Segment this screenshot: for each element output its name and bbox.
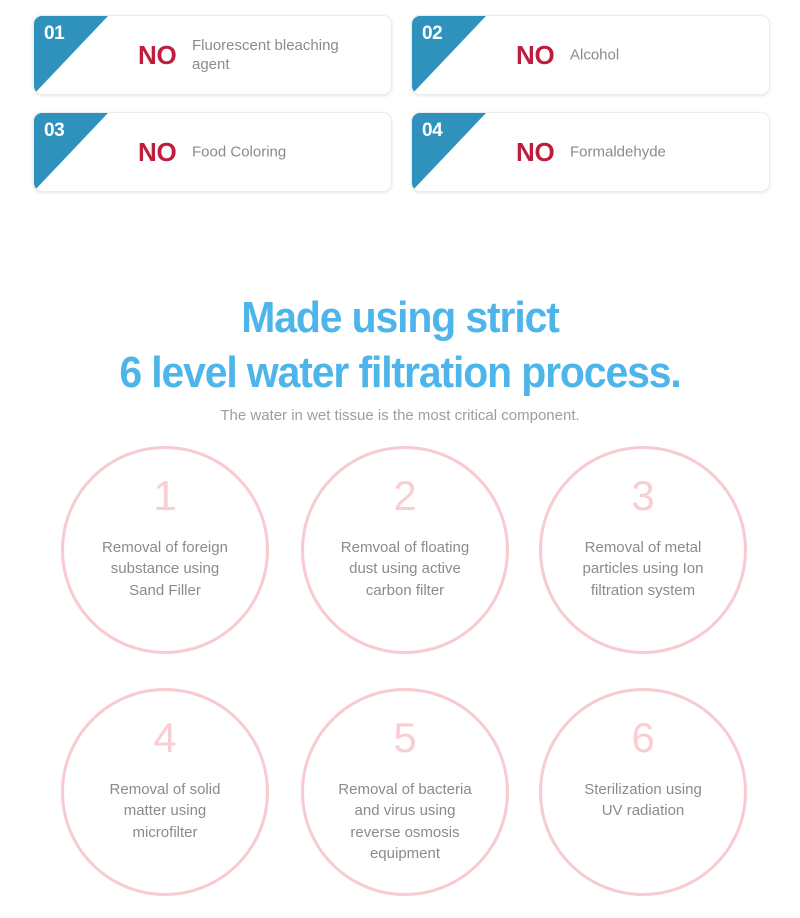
headline-line-1: Made using strict [28, 291, 772, 346]
no-card-04: 04 NO Formaldehyde [411, 112, 770, 192]
card-ingredient-text: Formaldehyde [570, 142, 757, 161]
card-number: 03 [44, 121, 64, 140]
filtration-steps: 1 Removal of foreign substance using San… [0, 438, 800, 918]
step-number: 5 [304, 717, 506, 759]
step-number: 2 [304, 475, 506, 517]
step-description: Removal of solid matter using microfilte… [58, 779, 272, 843]
card-no-label: NO [138, 139, 176, 165]
step-description: Removal of metal particles using Ion fil… [536, 537, 750, 601]
step-number: 3 [542, 475, 744, 517]
no-ingredient-cards: 01 NO Fluorescent bleaching agent 02 NO … [0, 0, 800, 200]
card-no-label: NO [516, 139, 554, 165]
subtitle: The water in wet tissue is the most crit… [0, 406, 800, 426]
step-number: 1 [64, 475, 266, 517]
no-card-03: 03 NO Food Coloring [33, 112, 392, 192]
no-card-02: 02 NO Alcohol [411, 15, 770, 95]
card-no-label: NO [516, 42, 554, 68]
filtration-step-6: 6 Sterilization using UV radiation [539, 688, 747, 896]
step-number: 6 [542, 717, 744, 759]
step-description: Remvoal of floating dust using active ca… [298, 537, 512, 601]
card-ingredient-text: Alcohol [570, 45, 757, 64]
card-number: 01 [44, 24, 64, 43]
filtration-step-1: 1 Removal of foreign substance using San… [61, 446, 269, 654]
filtration-step-4: 4 Removal of solid matter using microfil… [61, 688, 269, 896]
step-description: Removal of foreign substance using Sand … [58, 537, 272, 601]
card-number: 02 [422, 24, 442, 43]
card-number: 04 [422, 121, 442, 140]
filtration-step-3: 3 Removal of metal particles using Ion f… [539, 446, 747, 654]
page-title: Made using strict 6 level water filtrati… [28, 291, 772, 400]
filtration-step-2: 2 Remvoal of floating dust using active … [301, 446, 509, 654]
step-description: Removal of bacteria and virus using reve… [298, 779, 512, 864]
step-number: 4 [64, 717, 266, 759]
filtration-step-5: 5 Removal of bacteria and virus using re… [301, 688, 509, 896]
step-description: Sterilization using UV radiation [536, 779, 750, 822]
card-no-label: NO [138, 42, 176, 68]
card-ingredient-text: Food Coloring [192, 142, 379, 161]
no-card-01: 01 NO Fluorescent bleaching agent [33, 15, 392, 95]
card-ingredient-text: Fluorescent bleaching agent [192, 36, 379, 74]
headline-line-2: 6 level water filtration process. [28, 346, 772, 401]
